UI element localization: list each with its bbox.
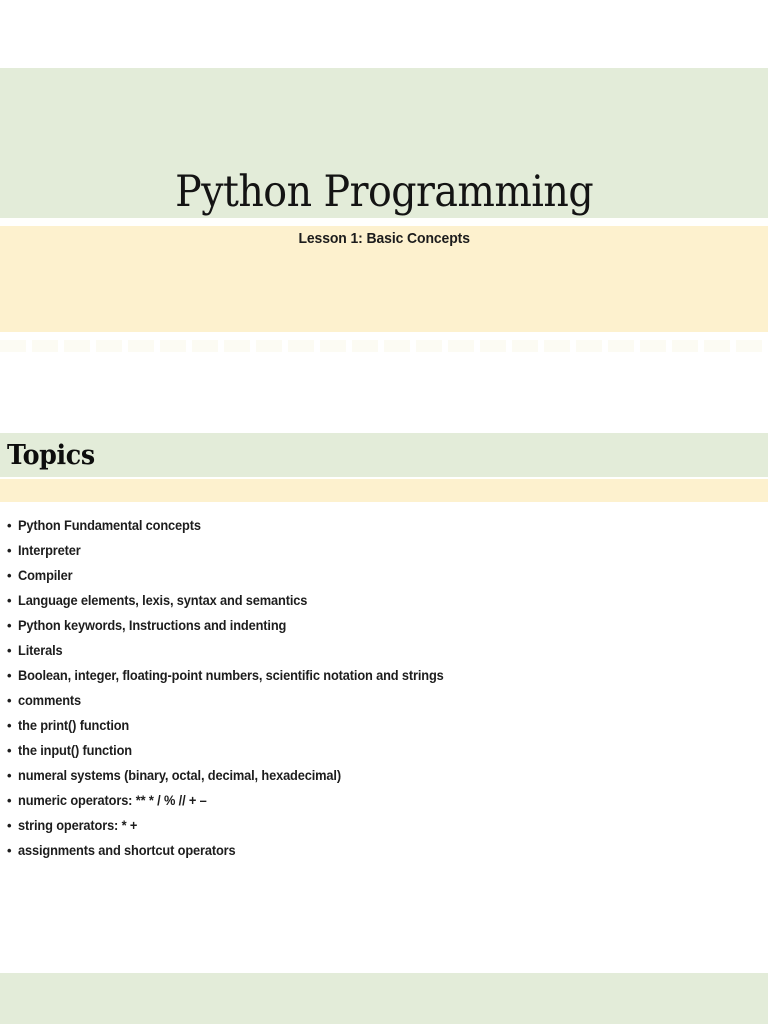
bullet-icon: • (7, 713, 11, 738)
page-title: Topics (7, 442, 95, 469)
bullet-icon: • (7, 688, 11, 713)
topics-bullet-list: • Python Fundamental concepts • Interpre… (0, 513, 768, 863)
list-item-label: Language elements, lexis, syntax and sem… (18, 588, 307, 613)
list-item-label: string operators: * + (18, 813, 137, 838)
list-item-label: the print() function (18, 713, 129, 738)
list-item: • string operators: * + (0, 813, 768, 838)
bullet-icon: • (7, 638, 11, 663)
bullet-icon: • (7, 663, 11, 688)
list-item: • Python Fundamental concepts (0, 513, 768, 538)
title-slide: Python Programming Lesson 1: Basic Conce… (0, 68, 768, 332)
bullet-icon: • (7, 538, 11, 563)
list-item-label: Python keywords, Instructions and indent… (18, 613, 286, 638)
list-item: • numeral systems (binary, octal, decima… (0, 763, 768, 788)
document-page: Python Programming Lesson 1: Basic Conce… (0, 0, 768, 1024)
bullet-icon: • (7, 513, 11, 538)
bullet-icon: • (7, 613, 11, 638)
slide-subtitle: Lesson 1: Basic Concepts (298, 226, 469, 252)
list-item-label: the input() function (18, 738, 132, 763)
list-item-label: Interpreter (18, 538, 81, 563)
list-item-label: numeral systems (binary, octal, decimal,… (18, 763, 341, 788)
list-item-label: comments (18, 688, 81, 713)
list-item-label: Python Fundamental concepts (18, 513, 201, 538)
next-slide-green-band (0, 973, 768, 1024)
list-item: • Literals (0, 638, 768, 663)
list-item-label: Literals (18, 638, 62, 663)
bullet-icon: • (7, 788, 11, 813)
slide-separator-dashes (0, 340, 768, 352)
bullet-icon: • (7, 588, 11, 613)
list-item: • assignments and shortcut operators (0, 838, 768, 863)
list-item: • Boolean, integer, floating-point numbe… (0, 663, 768, 688)
title-band-gap (0, 218, 768, 226)
list-item: • Interpreter (0, 538, 768, 563)
list-item: • the input() function (0, 738, 768, 763)
topics-cream-band (0, 479, 768, 502)
list-item: • Compiler (0, 563, 768, 588)
list-item: • Language elements, lexis, syntax and s… (0, 588, 768, 613)
slide-subtitle-container: Lesson 1: Basic Concepts (0, 226, 768, 252)
bullet-icon: • (7, 563, 11, 588)
list-item: • comments (0, 688, 768, 713)
bullet-icon: • (7, 738, 11, 763)
bullet-icon: • (7, 763, 11, 788)
list-item-label: assignments and shortcut operators (18, 838, 236, 863)
topics-heading-container: Topics (7, 433, 100, 477)
list-item-label: Compiler (18, 563, 72, 588)
list-item-label: Boolean, integer, floating-point numbers… (18, 663, 444, 688)
list-item: • Python keywords, Instructions and inde… (0, 613, 768, 638)
bullet-icon: • (7, 813, 11, 838)
topics-green-band (0, 433, 768, 477)
slide-title-container: Python Programming (0, 68, 768, 218)
list-item: • the print() function (0, 713, 768, 738)
list-item: • numeric operators: ** * / % // + – (0, 788, 768, 813)
list-item-label: numeric operators: ** * / % // + – (18, 788, 207, 813)
slide-title: Python Programming (175, 171, 593, 214)
bullet-icon: • (7, 838, 11, 863)
